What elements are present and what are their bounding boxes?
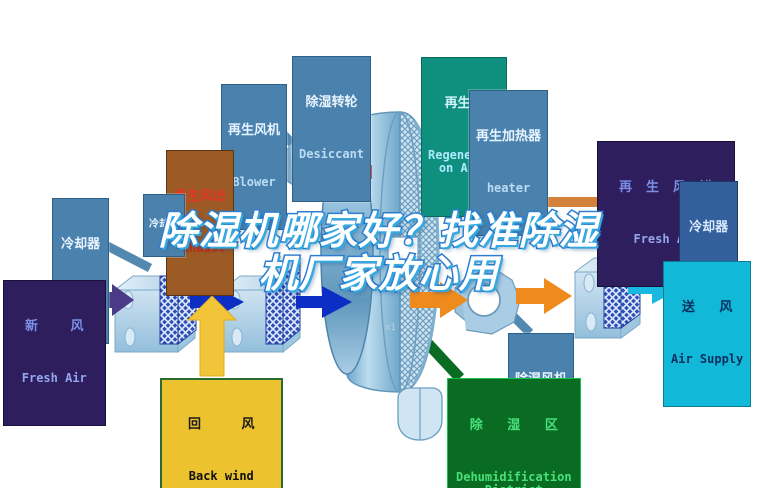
arrow-dry-air-2 xyxy=(516,278,572,314)
label-desiccant-rotor-cn: 除湿转轮 xyxy=(299,96,364,111)
label-air-supply-cn: 送 风 xyxy=(671,301,743,316)
diagram-canvas: x1 xyxy=(0,0,757,488)
label-cooler-left-secondary[interactable]: 冷却器 xyxy=(143,194,185,257)
label-dehumidification-district-en: Dehumidification District xyxy=(456,471,572,488)
label-air-supply-en: Air Supply xyxy=(671,353,743,367)
label-fresh-air-inlet-en: Fresh Air xyxy=(11,372,98,386)
label-back-wind[interactable]: 回 风 Back wind xyxy=(160,378,283,488)
label-cooler-left-cn: 冷却器 xyxy=(59,238,102,253)
label-fresh-air-inlet-cn: 新 风 xyxy=(11,320,98,335)
svg-text:x1: x1 xyxy=(385,323,396,333)
label-dehumidification-district-cn: 除 湿 区 xyxy=(456,419,572,434)
label-back-wind-cn: 回 风 xyxy=(170,418,273,433)
label-air-supply[interactable]: 送 风 Air Supply xyxy=(663,261,751,407)
label-cooler-left-secondary-cn: 冷却器 xyxy=(149,219,179,231)
label-desiccant-rotor[interactable]: 除湿转轮 Desiccant xyxy=(292,56,371,202)
label-regen-heater-cn: 再生加热器 xyxy=(476,130,541,145)
label-fresh-air-inlet[interactable]: 新 风 Fresh Air xyxy=(3,280,106,426)
label-regen-heater[interactable]: 再生加热器 heater xyxy=(469,90,548,236)
label-dehumidification-district[interactable]: 除 湿 区 Dehumidification District xyxy=(447,378,581,488)
label-regen-blower-cn: 再生风机 xyxy=(228,124,280,139)
label-regen-blower-en: Blower xyxy=(228,176,280,190)
label-desiccant-rotor-en: Desiccant xyxy=(299,148,364,162)
label-back-wind-en: Back wind xyxy=(170,470,273,484)
label-regen-heater-en: heater xyxy=(476,182,541,196)
label-cooler-right-cn: 冷却器 xyxy=(687,221,730,236)
